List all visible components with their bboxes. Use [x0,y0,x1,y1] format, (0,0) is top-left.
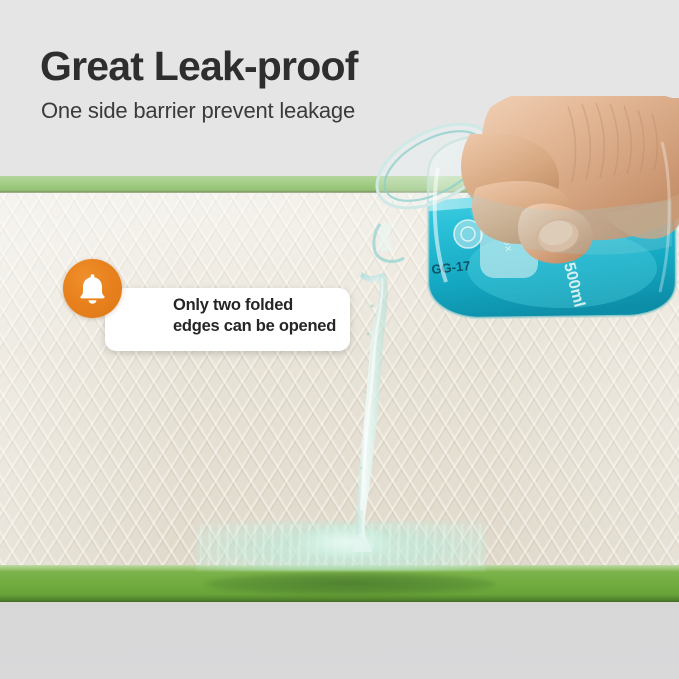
callout-note: Only two folded edges can be opened [63,259,353,352]
mat-barrier-wet-shadow [205,573,495,595]
bell-icon [78,273,107,304]
callout-line-2: edges can be opened [173,316,378,337]
page-title: Great Leak-proof [40,43,358,89]
callout-card-text: Only two folded edges can be opened [173,295,378,337]
product-feature-image: Great Leak-proof One side barrier preven… [0,0,679,679]
beaker-with-hand: 500 APPROX 200 GG-17 500ml [372,96,679,316]
page-subtitle: One side barrier prevent leakage [41,98,355,124]
callout-badge [63,259,122,318]
callout-line-1: Only two folded [173,295,378,316]
hand [461,96,679,264]
